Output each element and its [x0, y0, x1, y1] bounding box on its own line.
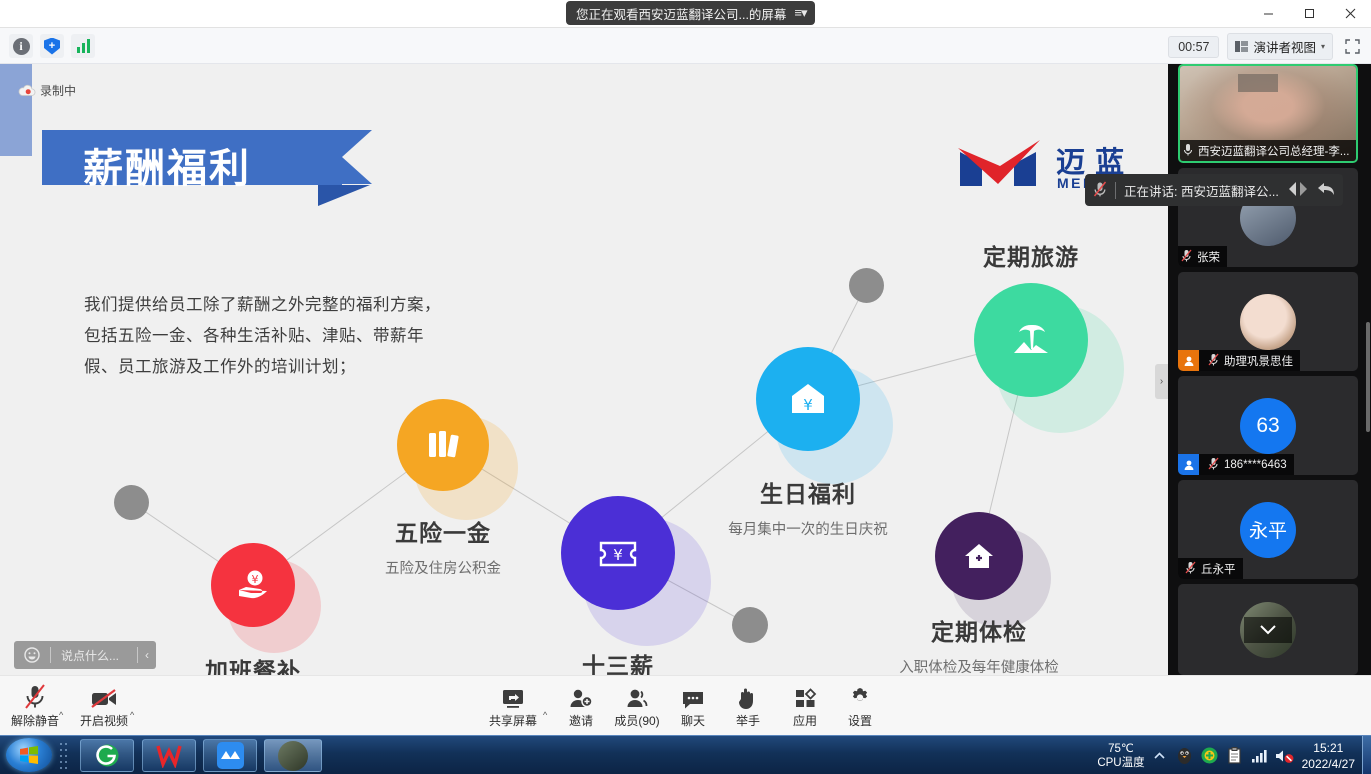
meeting-toolbar: 解除静音 ^ 开启视频 ^ 共享屏幕 ^ 邀请 — [0, 675, 1371, 735]
divider — [1115, 182, 1116, 199]
gear-icon — [848, 684, 872, 710]
taskbar-browser-360-icon[interactable] — [80, 739, 134, 772]
chevron-up-icon[interactable]: ^ — [543, 710, 547, 720]
decor-dot — [114, 485, 149, 520]
window-controls — [1248, 0, 1371, 27]
speaker-view-icon — [1235, 41, 1248, 52]
mic-muted-icon — [1204, 457, 1219, 473]
video-blur-patch — [1238, 74, 1278, 92]
books-icon — [421, 425, 465, 465]
node-title: 定期旅游 — [931, 238, 1131, 272]
taskbar-wps-office-icon[interactable] — [142, 739, 196, 772]
toolbar-label: 设置 — [848, 712, 872, 729]
system-tray: 75℃ CPU温度 15:21 2022/4/2 — [1097, 736, 1371, 774]
banner-arrow-shape — [342, 130, 372, 184]
minimize-button[interactable] — [1248, 0, 1289, 27]
apps-icon — [793, 684, 817, 710]
toolbar-button-unmute[interactable]: 解除静音 ^ — [3, 684, 67, 729]
mic-muted-icon — [1204, 353, 1219, 369]
mic-muted-icon — [23, 684, 47, 710]
slide-title: 薪酬福利 — [83, 136, 251, 194]
maximize-button[interactable] — [1289, 0, 1330, 27]
participant-name: 丘永平 — [1201, 561, 1236, 577]
toolbar-label: 开启视频 — [80, 712, 128, 729]
show-desktop-button[interactable] — [1362, 736, 1371, 774]
participant-scrollbar[interactable] — [1366, 322, 1370, 432]
toolbar-label: 共享屏幕 — [489, 712, 537, 729]
participant-name-chip: 丘永平 — [1178, 558, 1243, 579]
participant-tile[interactable]: 63 186****6463 — [1178, 376, 1358, 475]
mic-muted-icon — [1181, 249, 1192, 265]
fullscreen-icon[interactable] — [1341, 37, 1363, 57]
chat-icon — [681, 684, 705, 710]
taskbar-clock[interactable]: 15:21 2022/4/27 — [1302, 740, 1355, 772]
participant-name-chip: 助理巩景思佳 — [1178, 350, 1300, 371]
quick-chat-input[interactable]: 说点什么... — [51, 641, 137, 669]
toolbar-label: 解除静音 — [11, 712, 59, 729]
toolbar-label: 成员(90) — [614, 712, 659, 729]
participant-strip: 西安迈蓝翻译公司总经理-李... 张荣 助理巩景思佳 — [1168, 64, 1371, 675]
participant-badge-icon — [1178, 454, 1199, 475]
recording-label: 录制中 — [40, 82, 76, 99]
chevron-up-icon[interactable]: ^ — [130, 710, 134, 720]
zoom-meeting-window: 您正在观看西安迈蓝翻译公司...的屏幕 ≡▾ i + 00:57 演讲者 — [0, 0, 1371, 774]
cpu-temp-label: CPU温度 — [1097, 756, 1144, 770]
participant-name: 张荣 — [1197, 249, 1220, 265]
view-mode-selector[interactable]: 演讲者视图 ▾ — [1227, 33, 1333, 60]
windows-taskbar: 75℃ CPU温度 15:21 2022/4/2 — [0, 735, 1371, 774]
decor-dot — [849, 268, 884, 303]
share-screen-icon — [500, 684, 526, 710]
window-titlebar: 您正在观看西安迈蓝翻译公司...的屏幕 ≡▾ — [0, 0, 1371, 28]
ticket-yuan-icon: ¥ — [593, 531, 643, 575]
participant-name-chip: 张荣 — [1178, 246, 1227, 267]
infographic-node-meal: ¥ — [253, 585, 295, 627]
view-mode-label: 演讲者视图 — [1253, 37, 1316, 56]
hamburger-icon[interactable]: ≡▾ — [794, 5, 806, 21]
recording-indicator: 录制中 — [18, 82, 76, 99]
mic-muted-icon — [1093, 181, 1107, 200]
node-subtitle: 入职体检及每年健康体检 — [849, 656, 1109, 675]
infographic-label-checkup: 定期体检 入职体检及每年健康体检 — [849, 613, 1109, 675]
toolbar-label: 聊天 — [681, 712, 705, 729]
toolbar-button-start-video[interactable]: 开启视频 ^ — [72, 684, 136, 729]
gift-house-icon: ¥ — [784, 375, 832, 423]
cpu-temp-value: 75℃ — [1097, 742, 1144, 756]
clock-time: 15:21 — [1302, 740, 1355, 756]
palm-island-icon — [1004, 315, 1058, 365]
toolbar-button-invite[interactable]: 邀请 — [549, 684, 613, 729]
mic-active-icon — [1183, 143, 1193, 159]
signal-bars-icon[interactable] — [71, 34, 95, 58]
node-title: 五险一金 — [343, 514, 543, 548]
node-subtitle: 五险及住房公积金 — [343, 557, 543, 578]
decor-dot — [732, 607, 768, 643]
infographic-label-meal: 加班餐补 — [153, 652, 353, 675]
infographic-label-insurance: 五险一金 五险及住房公积金 — [343, 514, 543, 578]
toolbar-button-raise-hand[interactable]: 举手 — [716, 684, 780, 729]
infographic-node-travel — [1031, 340, 1088, 397]
meeting-info-bar: i + 00:57 演讲者视图 ▾ — [0, 28, 1371, 64]
chevron-up-icon[interactable] — [1150, 746, 1169, 765]
collapse-arrows-icon[interactable] — [1287, 181, 1309, 200]
avatar: 永平 — [1240, 502, 1296, 558]
host-badge-icon — [1178, 350, 1199, 371]
participant-name-chip: 186****6463 — [1178, 454, 1294, 475]
meeting-status-icons: i + — [9, 34, 95, 58]
signal-bars-icon[interactable] — [1250, 746, 1269, 765]
taskbar-meeting-app-icon[interactable] — [203, 739, 257, 772]
participant-name: 186****6463 — [1224, 459, 1287, 471]
hand-money-icon: ¥ — [233, 565, 273, 605]
participant-tile[interactable]: 助理巩景思佳 — [1178, 272, 1358, 371]
clipboard-icon[interactable] — [1225, 746, 1244, 765]
svg-text:¥: ¥ — [252, 573, 259, 586]
participants-icon — [624, 684, 650, 710]
clock-date: 2022/4/27 — [1302, 756, 1355, 772]
participant-tile-active[interactable]: 西安迈蓝翻译公司总经理-李... — [1178, 64, 1358, 163]
security-plus-icon[interactable] — [1200, 746, 1219, 765]
cpu-temp-indicator[interactable]: 75℃ CPU温度 — [1097, 742, 1144, 770]
shared-screen-title: 您正在观看西安迈蓝翻译公司...的屏幕 — [576, 4, 786, 23]
volume-muted-icon[interactable] — [1275, 746, 1294, 765]
home-health-icon — [958, 535, 1000, 577]
infographic-label-13salary: 十三薪 工作满一年十三薪 — [518, 647, 718, 675]
side-panel-toggle[interactable]: › — [1155, 364, 1168, 399]
taskbar-window-thumbnail[interactable] — [264, 739, 322, 772]
quick-chat-bar[interactable]: 说点什么... ‹ — [14, 641, 156, 669]
back-arrow-icon[interactable] — [1317, 181, 1335, 200]
chevron-down-icon: ▾ — [1321, 42, 1325, 51]
invite-icon — [568, 684, 594, 710]
node-title: 加班餐补 — [153, 652, 353, 675]
participant-name: 助理巩景思佳 — [1224, 353, 1293, 369]
participant-tile[interactable] — [1178, 584, 1358, 675]
infographic-label-travel: 定期旅游 — [931, 238, 1131, 272]
infographic-label-birthday: 生日福利 每月集中一次的生日庆祝 — [670, 475, 946, 539]
meeting-timer: 00:57 — [1168, 36, 1219, 58]
meeting-view-controls: 00:57 演讲者视图 ▾ — [1168, 33, 1363, 60]
active-speaker-bar[interactable]: 正在讲话: 西安迈蓝翻译公... — [1085, 174, 1343, 206]
toolbar-label: 举手 — [736, 712, 760, 729]
participant-tile[interactable]: 永平 丘永平 — [1178, 480, 1358, 579]
raise-hand-icon — [737, 684, 759, 710]
shared-screen-content: 录制中 薪酬福利 迈 蓝 MEDICAL 我们提供给员工除了薪酬之外完整的福利方… — [0, 64, 1168, 675]
avatar-initials: 永平 — [1249, 516, 1287, 543]
node-title: 十三薪 — [518, 647, 718, 675]
toolbar-label: 邀请 — [569, 712, 593, 729]
video-off-icon — [90, 684, 118, 710]
infographic-node-checkup — [979, 556, 1023, 600]
infographic-node-insurance — [443, 445, 489, 491]
chevron-up-icon[interactable]: ^ — [59, 710, 63, 720]
avatar: 63 — [1240, 398, 1296, 454]
cloud-recording-icon — [18, 84, 36, 97]
thumbnail-avatar — [278, 741, 308, 771]
toolbar-button-participants[interactable]: 成员(90) — [605, 684, 669, 729]
taskbar-divider — [58, 739, 70, 772]
mic-muted-icon — [1181, 561, 1196, 577]
infographic-node-birthday: ¥ — [808, 399, 860, 451]
windows-start-icon[interactable] — [6, 738, 52, 772]
node-title: 定期体检 — [849, 613, 1109, 647]
scroll-down-button[interactable] — [1244, 617, 1292, 643]
participant-name-chip: 西安迈蓝翻译公司总经理-李... — [1180, 140, 1356, 161]
shield-icon[interactable]: + — [40, 34, 64, 58]
toolbar-button-settings[interactable]: 设置 — [828, 684, 892, 729]
node-title: 生日福利 — [670, 475, 946, 509]
info-icon[interactable]: i — [9, 34, 33, 58]
participant-name: 西安迈蓝翻译公司总经理-李... — [1198, 143, 1349, 159]
toolbar-button-share-screen[interactable]: 共享屏幕 ^ — [481, 684, 545, 729]
infographic-node-13salary: ¥ — [618, 553, 675, 610]
chat-collapse-button[interactable]: ‹ — [138, 641, 156, 669]
banner-fold-shape — [318, 185, 370, 206]
avatar-initials: 63 — [1256, 414, 1279, 438]
qq-penguin-icon[interactable] — [1175, 746, 1194, 765]
shared-screen-indicator[interactable]: 您正在观看西安迈蓝翻译公司...的屏幕 ≡▾ — [566, 1, 815, 25]
avatar — [1240, 294, 1296, 350]
smiley-icon[interactable] — [14, 641, 50, 669]
svg-text:¥: ¥ — [803, 396, 813, 414]
toolbar-label: 应用 — [793, 712, 817, 729]
svg-text:¥: ¥ — [613, 546, 623, 564]
active-speaker-label: 正在讲话: 西安迈蓝翻译公... — [1124, 181, 1279, 200]
node-subtitle: 每月集中一次的生日庆祝 — [670, 518, 946, 539]
close-button[interactable] — [1330, 0, 1371, 27]
